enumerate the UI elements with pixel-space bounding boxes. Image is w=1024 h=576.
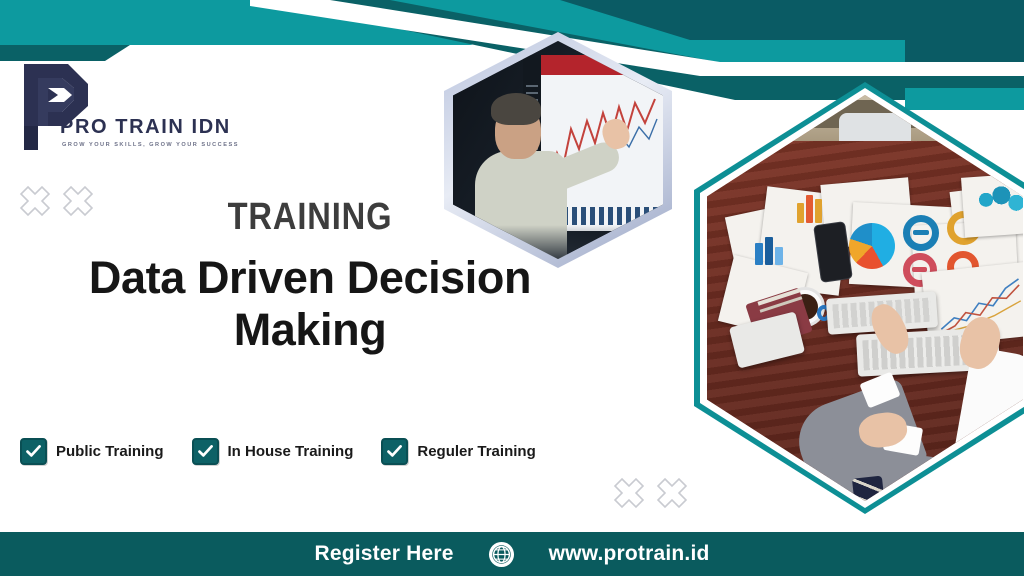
website-url[interactable]: www.protrain.id — [549, 542, 710, 566]
badge-public-training: Public Training — [20, 438, 164, 465]
checkbox-checked-icon — [192, 438, 219, 465]
decoration-x-marks-bottom — [612, 476, 689, 510]
register-here-cta[interactable]: Register Here — [314, 542, 453, 566]
header-band-dark-left — [0, 45, 130, 61]
checkbox-checked-icon — [20, 438, 47, 465]
badge-label: In House Training — [228, 443, 354, 460]
hero-headline: Data Driven Decision Making — [30, 252, 590, 356]
brand-logo: PRO TRAIN IDN GROW YOUR SKILLS, GROW YOU… — [18, 62, 228, 162]
brand-tagline: GROW YOUR SKILLS, GROW YOUR SUCCESS — [62, 142, 239, 148]
header-band-teal-lower — [905, 88, 1024, 110]
checkbox-checked-icon — [381, 438, 408, 465]
hex-photo-large-frame — [700, 88, 1024, 508]
brand-name: PRO TRAIN IDN — [60, 116, 239, 139]
hero-headline-line1: Data Driven Decision — [30, 252, 590, 304]
footer-bar: Register Here www.protrain.id — [0, 532, 1024, 576]
badge-label: Public Training — [56, 443, 164, 460]
training-promo-banner: PRO TRAIN IDN GROW YOUR SKILLS, GROW YOU… — [0, 0, 1024, 576]
hero-headline-line2: Making — [30, 304, 590, 356]
badge-reguler-training: Reguler Training — [381, 438, 535, 465]
badge-in-house-training: In House Training — [192, 438, 354, 465]
hex-photo-small-analyst-scene — [453, 41, 663, 259]
badge-label: Reguler Training — [417, 443, 535, 460]
globe-icon — [488, 541, 515, 568]
x-outline-icon — [655, 476, 689, 510]
x-outline-icon — [612, 476, 646, 510]
training-type-badges: Public Training In House Training Regule… — [20, 438, 536, 465]
